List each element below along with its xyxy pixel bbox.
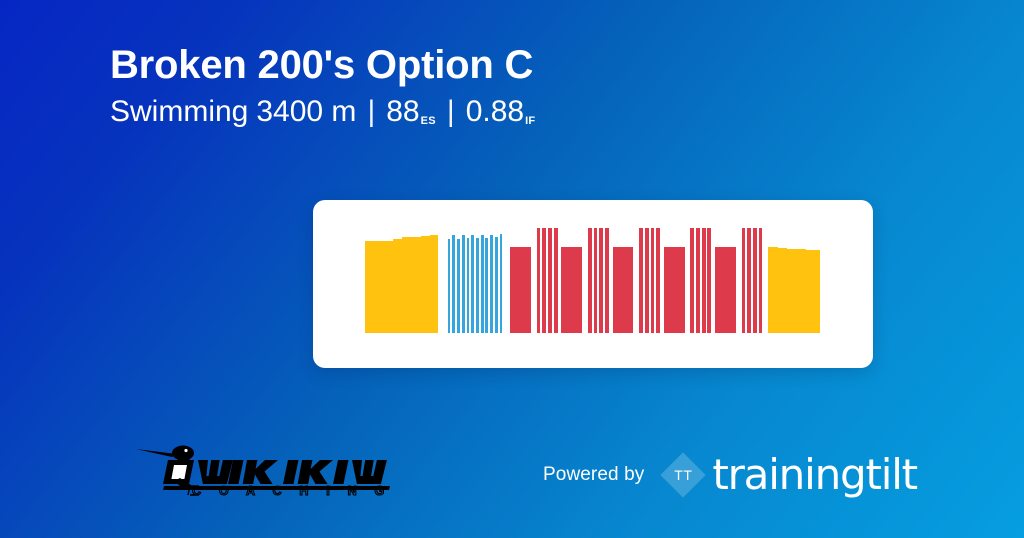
profile-bar-main bbox=[510, 247, 531, 333]
workout-meta: Swimming 3400 m | 88 ES | 0.88 IF bbox=[110, 95, 950, 128]
profile-bar-cooldown bbox=[768, 247, 777, 333]
profile-bar-main bbox=[645, 228, 649, 333]
profile-bar-cooldown bbox=[778, 248, 787, 333]
profile-bar-main bbox=[599, 228, 603, 333]
profile-bar-main bbox=[588, 228, 592, 333]
profile-bar-warmup bbox=[412, 237, 421, 333]
profile-bar-drill bbox=[467, 238, 470, 333]
powered-by-label: Powered by bbox=[543, 464, 644, 486]
meta-separator-2: | bbox=[436, 95, 466, 128]
qwik-kiwi-logo: C O A C H I N G bbox=[128, 434, 398, 496]
qwik-kiwi-logo-graphic: C O A C H I N G bbox=[128, 434, 398, 496]
profile-bar-gap bbox=[502, 332, 510, 333]
profile-bar-main bbox=[664, 247, 685, 333]
workout-profile-chart bbox=[365, 225, 821, 333]
tt-monogram: TT bbox=[660, 452, 706, 498]
profile-bar-main bbox=[707, 228, 711, 333]
profile-bar-drill bbox=[462, 235, 465, 333]
profile-bar-drill bbox=[476, 238, 479, 333]
coaching-tagline: C O A C H I N G bbox=[192, 484, 391, 496]
profile-bar-drill bbox=[500, 234, 503, 333]
profile-bar-main bbox=[747, 228, 751, 333]
training-tilt-wordmark: trainingtilt bbox=[712, 454, 917, 496]
poster-header: Broken 200's Option C Swimming 3400 m | … bbox=[110, 44, 950, 128]
profile-bar-main bbox=[759, 228, 763, 333]
profile-bar-main bbox=[613, 247, 634, 333]
profile-bar-main bbox=[561, 247, 582, 333]
workout-distance: 3400 m bbox=[256, 95, 356, 128]
profile-bar-cooldown bbox=[806, 250, 820, 333]
powered-by-block: Powered by TT trainingtilt bbox=[543, 452, 917, 498]
training-tilt-diamond-icon: TT bbox=[660, 452, 706, 498]
profile-bar-main bbox=[702, 228, 706, 333]
workout-profile-card bbox=[313, 200, 873, 368]
profile-bar-gap bbox=[438, 332, 447, 333]
profile-bar-main bbox=[639, 228, 643, 333]
profile-bar-warmup bbox=[393, 239, 402, 333]
profile-bar-main bbox=[594, 228, 598, 333]
profile-bar-main bbox=[651, 228, 655, 333]
profile-bar-main bbox=[554, 228, 558, 333]
profile-bar-main bbox=[605, 228, 609, 333]
profile-bar-main bbox=[548, 228, 552, 333]
profile-bar-main bbox=[696, 228, 700, 333]
effort-score-value: 88 bbox=[386, 95, 419, 128]
profile-bar-cooldown bbox=[797, 249, 806, 333]
profile-bar-warmup bbox=[421, 236, 430, 333]
profile-bar-drill bbox=[448, 239, 451, 334]
profile-bar-drill bbox=[490, 235, 493, 333]
profile-bar-main bbox=[690, 228, 694, 333]
intensity-factor-unit: IF bbox=[524, 115, 535, 127]
workout-share-poster: Broken 200's Option C Swimming 3400 m | … bbox=[0, 0, 1024, 538]
profile-bar-main bbox=[742, 228, 746, 333]
profile-bar-drill bbox=[485, 238, 488, 333]
workout-title: Broken 200's Option C bbox=[110, 44, 950, 86]
profile-bar-drill bbox=[495, 237, 498, 333]
profile-bar-drill bbox=[457, 239, 460, 334]
profile-bar-cooldown bbox=[787, 249, 796, 333]
profile-bar-warmup bbox=[365, 241, 393, 333]
profile-bar-drill bbox=[452, 235, 455, 333]
effort-score-unit: ES bbox=[420, 115, 436, 127]
profile-bar-main bbox=[542, 228, 546, 333]
profile-bar-drill bbox=[481, 235, 484, 333]
profile-bar-main bbox=[753, 228, 757, 333]
meta-separator-1: | bbox=[356, 95, 386, 128]
profile-bar-warmup bbox=[402, 237, 411, 333]
profile-bar-main bbox=[656, 228, 660, 333]
workout-sport: Swimming bbox=[110, 95, 248, 128]
profile-bar-main bbox=[537, 228, 541, 333]
intensity-factor-value: 0.88 bbox=[466, 95, 524, 128]
profile-bar-warmup bbox=[430, 235, 438, 333]
profile-bar-main bbox=[715, 247, 736, 333]
profile-bar-drill bbox=[471, 235, 474, 333]
